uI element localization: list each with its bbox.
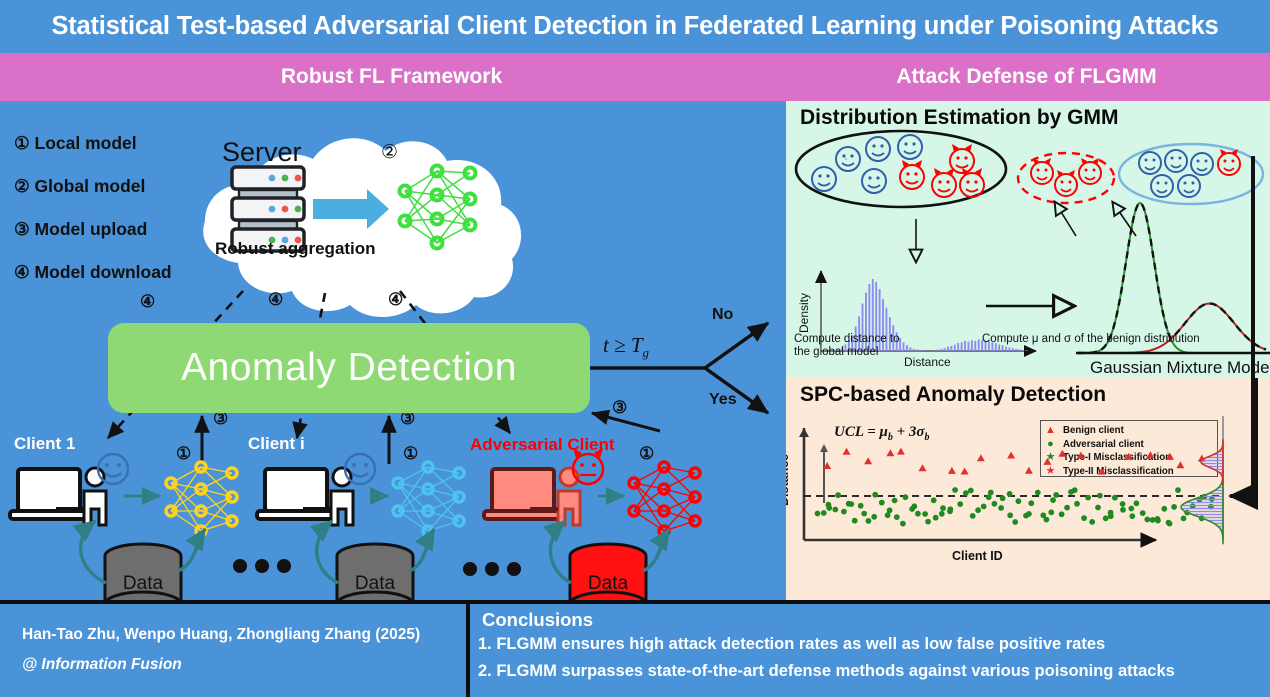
histogram-ylabel: Density (797, 293, 811, 333)
gmm-plot-label: Gaussian Mixture Model (1090, 358, 1270, 377)
client-i-data-arrow-a (317, 521, 338, 583)
robust-aggregation-label: Robust aggregation (215, 239, 376, 258)
spc-chart: Distance Client ID (786, 378, 1270, 600)
benign-cluster-faces (1139, 149, 1240, 197)
compute-distance-caption: Compute distance to the global model (794, 333, 899, 359)
client-1-data-cylinder: Data (105, 544, 181, 600)
local-marker-3: ① (639, 444, 654, 463)
client-i-data-cylinder: Data (337, 544, 413, 600)
conclusion-item-1: 1. FLGMM ensures high attack detection r… (478, 635, 1105, 654)
server-label: Server (222, 137, 302, 167)
adversarial-client-laptop (484, 469, 562, 519)
benign-cluster-ellipse (1119, 144, 1263, 204)
authors-box: Han-Tao Zhu, Wenpo Huang, Zhongliang Zha… (0, 600, 466, 697)
conclusions-box: Conclusions 1. FLGMM ensures high attack… (466, 600, 1270, 697)
global-model-marker: ② (381, 142, 398, 163)
spc-ylabel: Distance (786, 454, 791, 506)
conclusion-item-2: 2. FLGMM surpasses state-of-the-art defe… (478, 662, 1175, 681)
client-label-adversarial: Adversarial Client (470, 435, 615, 455)
client-i-benign-face (345, 454, 375, 484)
local-marker-1: ① (176, 444, 191, 463)
section-band: Robust FL Framework Attack Defense of FL… (0, 53, 1270, 101)
client-1-local-network (166, 462, 237, 536)
ellipsis-dots-2 (463, 562, 521, 576)
anomaly-detection-box[interactable]: Anomaly Detection (108, 323, 590, 413)
venue-line: @ Information Fusion (22, 656, 182, 674)
feedback-arrow (1230, 378, 1256, 496)
client-label-1: Client 1 (14, 434, 75, 454)
client-1-data-arrow-a (81, 521, 106, 583)
download-marker-2: ④ (268, 290, 283, 309)
section-title-framework: Robust FL Framework (281, 65, 502, 89)
adversarial-cluster-pointer (1058, 207, 1076, 236)
threshold-condition-sub: g (643, 345, 650, 360)
client-1-benign-face (98, 454, 128, 484)
adversarial-data-cylinder: Data (570, 544, 646, 600)
spc-panel: SPC-based Anomaly Detection UCL = μb + 3… (783, 378, 1270, 600)
section-title-defense: Attack Defense of FLGMM (896, 65, 1156, 89)
section-band-left: Robust FL Framework (0, 53, 783, 101)
compute-mu-sigma-caption: Compute μ and σ of the benign distributi… (982, 333, 1200, 346)
adversarial-data-label: Data (588, 573, 629, 594)
threshold-condition-text: t ≥ T (603, 333, 643, 357)
ellipsis-dots-1 (233, 559, 291, 573)
client-1-laptop (10, 469, 88, 519)
branch-label-no: No (712, 306, 733, 324)
poster-title: Statistical Test-based Adversarial Clien… (51, 12, 1218, 41)
histogram-xlabel: Distance (904, 355, 951, 369)
anomaly-detection-label: Anomaly Detection (181, 346, 517, 390)
spc-xlabel: Client ID (952, 549, 1003, 563)
download-marker-1: ④ (140, 292, 155, 311)
marginal-density (1181, 416, 1223, 544)
branch-label-yes: Yes (709, 391, 737, 409)
threshold-condition: t ≥ Tg (603, 333, 649, 361)
client-label-i: Client i (248, 434, 305, 454)
mixed-population-ellipse (796, 131, 1006, 207)
gaussian-mixture-plot (1076, 203, 1270, 353)
authors-line: Han-Tao Zhu, Wenpo Huang, Zhongliang Zha… (22, 626, 420, 644)
section-band-right: Attack Defense of FLGMM (783, 53, 1270, 101)
adversarial-data-arrow-a (550, 521, 571, 583)
client-i-data-label: Data (355, 573, 396, 594)
upload-marker-3: ③ (612, 398, 627, 417)
client-i-laptop (257, 469, 335, 519)
framework-panel: ① Local model ② Global model ③ Model upl… (0, 101, 783, 600)
poster-root: Statistical Test-based Adversarial Clien… (0, 0, 1270, 697)
mixed-population-faces (812, 135, 984, 197)
client-i-local-network (393, 462, 464, 536)
adversarial-cluster-faces (1031, 158, 1101, 196)
local-marker-2: ① (403, 444, 418, 463)
conclusions-heading: Conclusions (482, 609, 593, 631)
download-marker-3: ④ (388, 290, 403, 309)
client-1-data-label: Data (123, 573, 164, 594)
gmm-panel: Distribution Estimation by GMM (783, 101, 1270, 378)
adversarial-local-network (629, 462, 700, 536)
poster-title-bar: Statistical Test-based Adversarial Clien… (0, 0, 1270, 53)
